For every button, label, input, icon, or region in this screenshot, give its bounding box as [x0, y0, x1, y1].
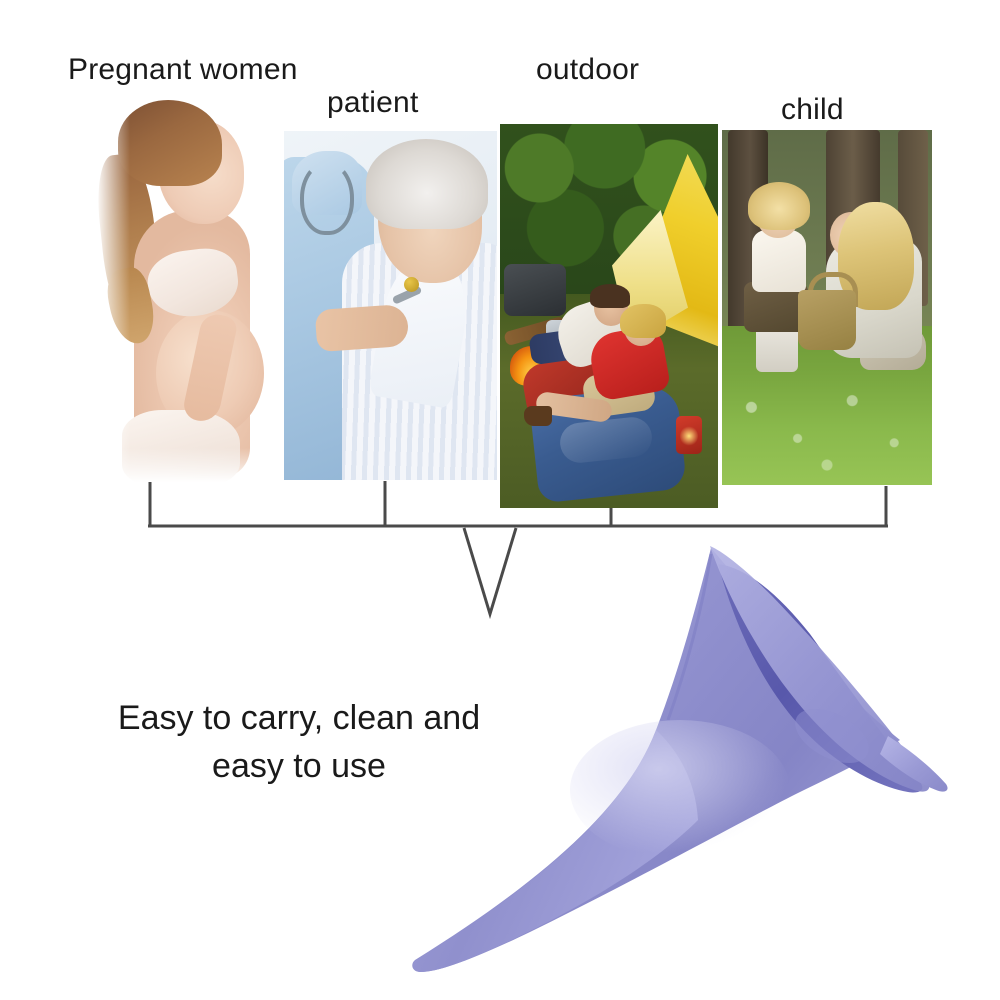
- category-label-pregnant-women: Pregnant women: [68, 55, 298, 85]
- nurse-hand-shape: [315, 304, 410, 352]
- grass-flower-specks: [722, 374, 932, 485]
- tote-bag-shape: [798, 290, 856, 350]
- photo-child: [722, 130, 932, 485]
- product-image-female-urination-funnel: [380, 540, 960, 980]
- patient-white-hair-shape: [366, 139, 488, 229]
- woman-hair-shape: [620, 304, 666, 338]
- bottom-fade-overlay: [96, 448, 282, 482]
- photo-patient: [284, 131, 497, 480]
- category-label-patient: patient: [327, 88, 418, 118]
- product-infographic: Pregnant women patient outdoor child: [0, 0, 1000, 1000]
- category-label-outdoor: outdoor: [536, 55, 639, 85]
- toddler-legs-shape: [756, 326, 798, 372]
- toddler-top-shape: [752, 230, 806, 292]
- toddler-hair-shape: [748, 182, 810, 230]
- photo-pregnant-woman: [96, 92, 282, 482]
- category-label-child: child: [781, 95, 844, 125]
- stethoscope-icon: [300, 161, 354, 235]
- left-fade-overlay: [96, 92, 130, 482]
- boot-shape: [524, 406, 552, 426]
- food-shape: [404, 277, 419, 292]
- photo-outdoor-camping: [500, 124, 718, 508]
- man-hair-shape: [590, 284, 630, 308]
- product-highlight: [570, 720, 790, 860]
- lantern-glow: [680, 426, 698, 446]
- cooler-shape: [504, 264, 566, 316]
- hair-shape: [118, 100, 222, 186]
